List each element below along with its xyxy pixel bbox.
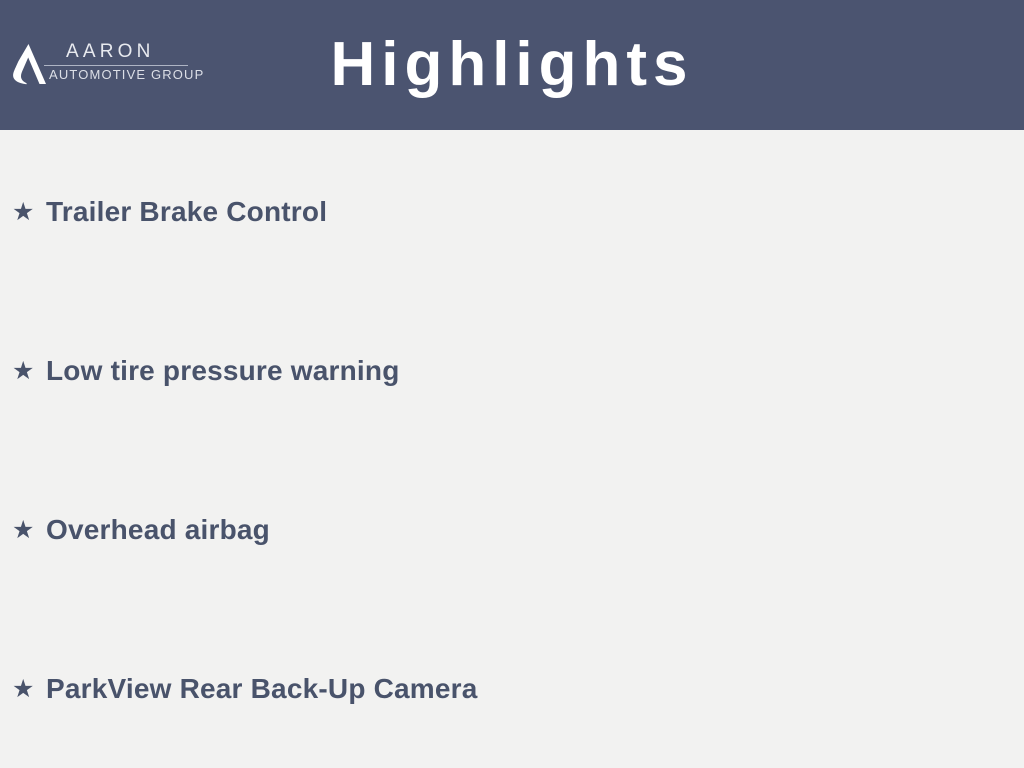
list-item-label: Overhead airbag bbox=[46, 513, 270, 547]
list-item-label: Low tire pressure warning bbox=[46, 354, 400, 388]
highlights-list: ★ Trailer Brake Control ★ Low tire press… bbox=[0, 130, 1024, 768]
list-item: ★ Overhead airbag bbox=[12, 507, 270, 553]
star-bullet-icon: ★ bbox=[12, 359, 46, 384]
star-bullet-icon: ★ bbox=[12, 677, 46, 702]
list-item-label: Trailer Brake Control bbox=[46, 195, 327, 229]
list-item: ★ Trailer Brake Control bbox=[12, 189, 327, 235]
star-bullet-icon: ★ bbox=[12, 200, 46, 225]
list-item-label: ParkView Rear Back-Up Camera bbox=[46, 672, 478, 706]
list-item: ★ ParkView Rear Back-Up Camera bbox=[12, 666, 478, 712]
list-item: ★ Low tire pressure warning bbox=[12, 348, 400, 394]
star-bullet-icon: ★ bbox=[12, 518, 46, 543]
slide: AARON AUTOMOTIVE GROUP Highlights ★ Trai… bbox=[0, 0, 1024, 768]
page-title: Highlights bbox=[0, 30, 1024, 100]
